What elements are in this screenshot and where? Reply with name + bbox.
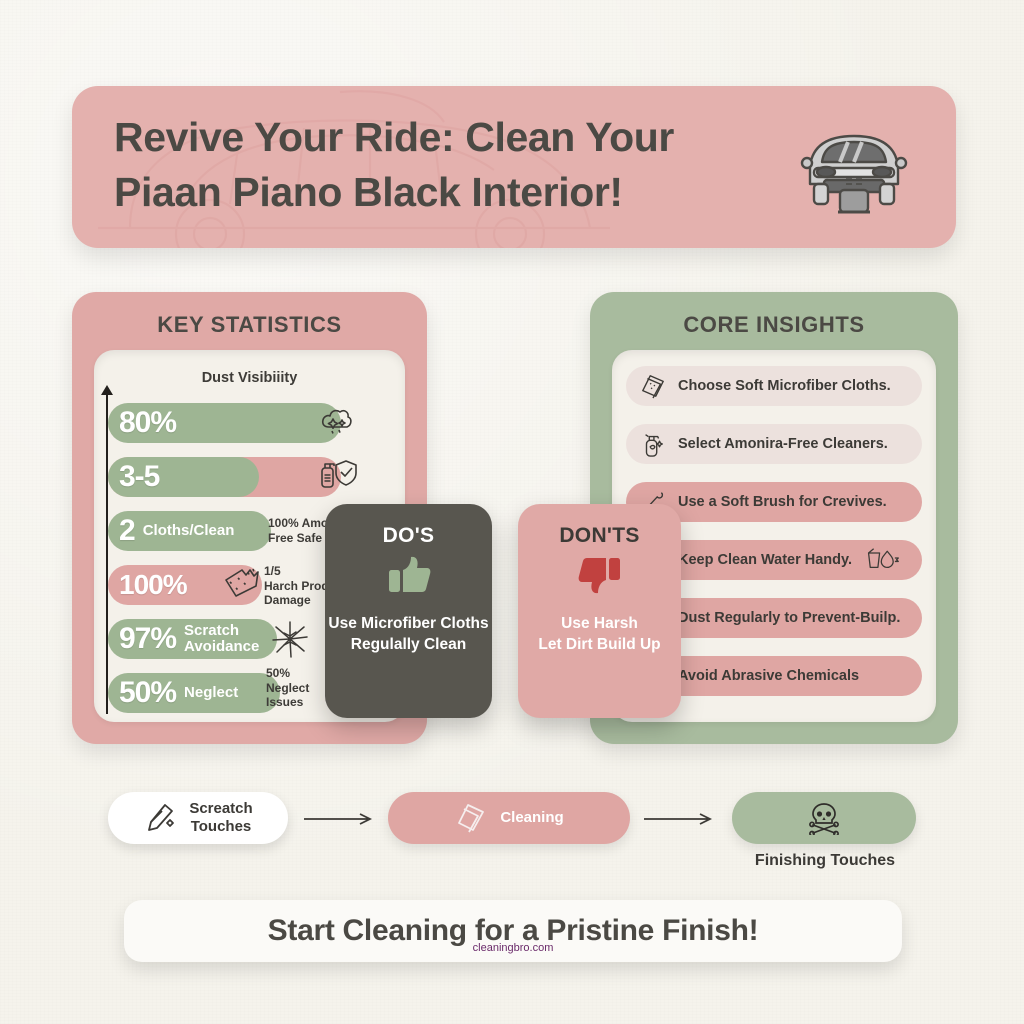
- insight-row[interactable]: Choose Soft Microfiber Cloths.: [626, 366, 922, 406]
- skull-crossbones-icon: [807, 801, 841, 835]
- flow-step-2-label: Cleaning: [500, 809, 563, 827]
- dos-card[interactable]: DO'S Use Microfiber Cloths Regulally Cle…: [325, 504, 492, 718]
- bar-caption: Cloths/Clean: [143, 523, 235, 539]
- dos-line-2: Regulally Clean: [328, 635, 488, 656]
- cta-banner[interactable]: Start Cleaning for a Pristine Finish! cl…: [124, 900, 902, 962]
- donts-title: DON'TS: [559, 524, 639, 548]
- cloth-stack-icon: [454, 801, 488, 835]
- insight-text: Use a Soft Brush for Crevives.: [678, 494, 887, 510]
- flow-step-scratch-touches[interactable]: Screatch Touches: [108, 792, 288, 844]
- bar-row: 80%: [108, 400, 399, 446]
- dos-text: Use Microfiber Cloths Regulally Clean: [328, 614, 488, 656]
- crack-star-icon: [270, 619, 310, 659]
- infographic-canvas: Revive Your Ride: Clean Your Piaan Piano…: [0, 0, 1024, 1024]
- key-statistics-title: KEY STATISTICS: [72, 312, 427, 338]
- header-banner: Revive Your Ride: Clean Your Piaan Piano…: [72, 86, 956, 248]
- dos-title: DO'S: [383, 524, 435, 548]
- chart-title: Dust Visibiiity: [94, 370, 405, 386]
- watermark: cleaningbro.com: [124, 942, 902, 954]
- flow-step-cleaning[interactable]: Cleaning: [388, 792, 630, 844]
- insight-text: Keep Clean Water Handy.: [678, 552, 852, 568]
- core-insights-title: CORE INSIGHTS: [590, 312, 958, 338]
- insight-text: Choose Soft Microfiber Cloths.: [678, 378, 891, 394]
- bar-value: 3-5: [119, 460, 159, 494]
- spray-bottle-icon: [640, 431, 666, 457]
- thumbs-down-icon: [578, 554, 622, 596]
- dust-cloud-icon: [320, 406, 354, 436]
- insight-text: Select Amonira-Free Cleaners.: [678, 436, 888, 452]
- arrow-right-icon: [302, 812, 380, 826]
- torn-cloth-icon: [216, 566, 262, 600]
- page-title: Revive Your Ride: Clean Your Piaan Piano…: [114, 110, 804, 219]
- flow-step-1-line-2: Touches: [191, 818, 252, 835]
- donts-text: Use Harsh Let Dirt Build Up: [538, 614, 660, 656]
- arrow-right-icon: [642, 812, 720, 826]
- bar-fill: 3-5: [108, 457, 259, 497]
- bar-caption: Neglect: [184, 685, 238, 701]
- title-line-1: Revive Your Ride: Clean Your: [114, 110, 804, 165]
- flow-step-3-caption: Finishing Touches: [710, 852, 940, 870]
- process-flow: Screatch Touches Cleaning: [100, 792, 924, 850]
- thumbs-up-icon: [387, 554, 431, 596]
- car-front-icon: [788, 118, 920, 218]
- water-glass-drop-icon: [866, 547, 900, 573]
- bar-caption: ScratchAvoidance: [184, 623, 259, 655]
- flow-step-1-label: Screatch Touches: [189, 800, 252, 836]
- bar-fill: 80%: [108, 403, 341, 443]
- donts-line-2: Let Dirt Build Up: [538, 635, 660, 656]
- bar-value: 80%: [119, 406, 176, 440]
- bar-value: 50%: [119, 676, 176, 710]
- insight-text: Dust Regularly to Prevent-Builp.: [678, 610, 900, 626]
- title-line-2: Piaan Piano Black Interior!: [114, 165, 804, 220]
- bar-value: 97%: [119, 622, 176, 656]
- insight-row[interactable]: Select Amonira-Free Cleaners.: [626, 424, 922, 464]
- microfiber-cloth-icon: [640, 373, 666, 399]
- spray-shield-icon: [318, 458, 362, 490]
- bar-row: 3-5: [108, 454, 399, 500]
- bar-value: 2: [119, 514, 135, 548]
- insight-text: Avoid Abrasive Chemicals: [678, 668, 859, 684]
- dos-line-1: Use Microfiber Cloths: [328, 614, 488, 635]
- bar-value: 100%: [119, 569, 187, 601]
- flow-step-1-line-1: Screatch: [189, 800, 252, 817]
- donts-card[interactable]: DON'TS Use Harsh Let Dirt Build Up: [518, 504, 681, 718]
- flow-step-finishing-touches[interactable]: [732, 792, 916, 844]
- feather-pen-icon: [143, 801, 177, 835]
- bar-fill: 50%Neglect: [108, 673, 280, 713]
- bar-fill: 97%ScratchAvoidance: [108, 619, 277, 659]
- donts-line-1: Use Harsh: [538, 614, 660, 635]
- bar-fill: 2Cloths/Clean: [108, 511, 271, 551]
